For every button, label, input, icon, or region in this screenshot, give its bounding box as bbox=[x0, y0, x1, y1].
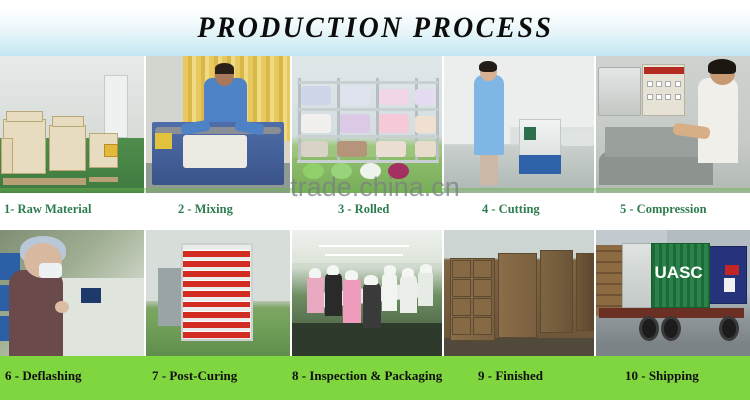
process-row-1-labels: 1- Raw Material 2 - Mixing 3 - Rolled 4 … bbox=[0, 193, 750, 230]
scene-worker-at-mixing-roller bbox=[146, 56, 290, 193]
process-image-6-deflashing[interactable] bbox=[0, 230, 146, 356]
scene-worker-deflashing-parts bbox=[0, 230, 144, 356]
production-process-infographic: PRODUCTION PROCESS bbox=[0, 0, 750, 400]
process-label-1: 1- Raw Material bbox=[4, 202, 91, 217]
scene-container-truck-loading: UASC bbox=[596, 230, 750, 356]
process-label-6: 6 - Deflashing bbox=[5, 368, 82, 384]
container-marking-text: UASC bbox=[655, 263, 703, 283]
process-image-5-compression[interactable] bbox=[596, 56, 750, 193]
process-label-7: 7 - Post-Curing bbox=[152, 368, 237, 384]
process-label-8: 8 - Inspection & Packaging bbox=[292, 368, 442, 384]
process-image-8-inspection-packaging[interactable] bbox=[292, 230, 444, 356]
process-row-1 bbox=[0, 56, 750, 193]
scene-red-tray-curing-trolley bbox=[146, 230, 290, 356]
process-image-4-cutting[interactable] bbox=[444, 56, 596, 193]
process-row-2: UASC bbox=[0, 230, 750, 356]
scene-stacked-finished-cartons bbox=[444, 230, 594, 356]
process-label-10: 10 - Shipping bbox=[625, 368, 699, 384]
process-label-2: 2 - Mixing bbox=[178, 202, 233, 217]
scene-warehouse-stacked-cartons bbox=[0, 56, 144, 193]
scene-worker-at-cutting-machine bbox=[444, 56, 594, 193]
process-image-3-rolled[interactable] bbox=[292, 56, 444, 193]
process-label-9: 9 - Finished bbox=[478, 368, 543, 384]
process-label-4: 4 - Cutting bbox=[482, 202, 540, 217]
scene-compression-molding-press bbox=[596, 56, 750, 193]
process-image-7-post-curing[interactable] bbox=[146, 230, 292, 356]
process-image-9-finished[interactable] bbox=[444, 230, 596, 356]
header-banner: PRODUCTION PROCESS bbox=[0, 0, 750, 56]
scene-shelves-of-rolled-material bbox=[292, 56, 442, 193]
process-image-10-shipping[interactable]: UASC bbox=[596, 230, 750, 356]
process-label-5: 5 - Compression bbox=[620, 202, 707, 217]
process-label-3: 3 - Rolled bbox=[338, 202, 389, 217]
scene-inspection-assembly-line bbox=[292, 230, 442, 356]
process-row-2-label-banner: 6 - Deflashing 7 - Post-Curing 8 - Inspe… bbox=[0, 356, 750, 400]
process-image-2-mixing[interactable] bbox=[146, 56, 292, 193]
process-image-1-raw-material[interactable] bbox=[0, 56, 146, 193]
page-title: PRODUCTION PROCESS bbox=[197, 11, 553, 45]
